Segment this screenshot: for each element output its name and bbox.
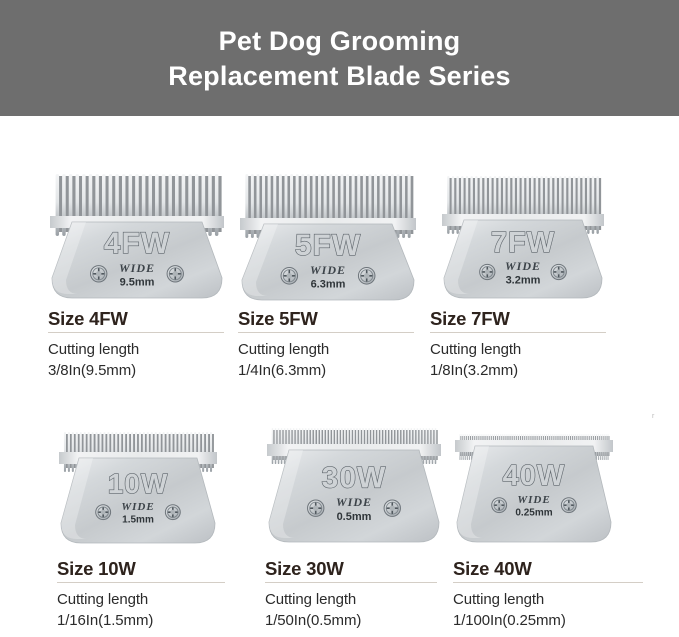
cutting-length-value-4: 1/50In(0.5mm) (265, 610, 437, 631)
svg-text:7FW: 7FW (491, 227, 555, 259)
cutting-length-label-3: Cutting length (57, 589, 225, 610)
svg-text:1.5mm: 1.5mm (122, 515, 154, 526)
svg-text:WIDE: WIDE (517, 494, 550, 506)
svg-text:0.25mm: 0.25mm (515, 508, 552, 519)
svg-text:9.5mm: 9.5mm (120, 277, 155, 289)
cutting-length-value-2: 1/8In(3.2mm) (430, 360, 606, 381)
blade-graphic-4fw: 4FW WIDE 9.5mm (48, 172, 226, 305)
svg-text:40W: 40W (503, 460, 566, 492)
svg-text:WIDE: WIDE (336, 495, 372, 509)
title-underline-1 (238, 332, 414, 333)
product-size-title-4: Size 30W (265, 558, 437, 580)
product-size-title-1: Size 5FW (238, 308, 414, 330)
product-size-title-0: Size 4FW (48, 308, 224, 330)
cutting-length-label-4: Cutting length (265, 589, 437, 610)
svg-text:4FW: 4FW (104, 227, 170, 260)
scan-artifact: ⁠r (652, 413, 654, 420)
product-size-title-2: Size 7FW (430, 308, 606, 330)
product-size-title-3: Size 10W (57, 558, 225, 580)
product-info-0: Size 4FW Cutting length 3/8In(9.5mm) (48, 308, 224, 381)
title-underline-2 (430, 332, 606, 333)
svg-text:WIDE: WIDE (505, 259, 541, 273)
cutting-length-label-5: Cutting length (453, 589, 643, 610)
product-info-2: Size 7FW Cutting length 1/8In(3.2mm) (430, 308, 606, 381)
cutting-length-label-1: Cutting length (238, 339, 414, 360)
title-underline-4 (265, 582, 437, 583)
blade-graphic-30w: 30W WIDE 0.5mm (265, 426, 443, 549)
svg-text:6.3mm: 6.3mm (311, 279, 346, 291)
title-underline-0 (48, 332, 224, 333)
product-info-1: Size 5FW Cutting length 1/4In(6.3mm) (238, 308, 414, 381)
cutting-length-value-5: 1/100In(0.25mm) (453, 610, 643, 631)
title-underline-3 (57, 582, 225, 583)
cutting-length-label-2: Cutting length (430, 339, 606, 360)
blade-graphic-40w: 40W WIDE 0.25mm (453, 432, 615, 549)
cutting-length-value-0: 3/8In(9.5mm) (48, 360, 224, 381)
blade-graphic-7fw: 7FW WIDE 3.2mm (440, 174, 606, 305)
svg-text:3.2mm: 3.2mm (506, 275, 541, 287)
blade-graphic-5fw: 5FW WIDE 6.3mm (238, 172, 418, 307)
page-header: Pet Dog Grooming Replacement Blade Serie… (0, 0, 679, 116)
cutting-length-value-1: 1/4In(6.3mm) (238, 360, 414, 381)
svg-text:10W: 10W (108, 468, 169, 499)
product-info-4: Size 30W Cutting length 1/50In(0.5mm) (265, 558, 437, 631)
title-underline-5 (453, 582, 643, 583)
product-info-5: Size 40W Cutting length 1/100In(0.25mm) (453, 558, 643, 631)
page-title-line-1: Pet Dog Grooming (219, 24, 461, 59)
page-title-line-2: Replacement Blade Series (168, 59, 510, 94)
svg-text:WIDE: WIDE (119, 261, 155, 275)
svg-text:0.5mm: 0.5mm (337, 511, 372, 523)
svg-text:5FW: 5FW (295, 229, 361, 262)
product-info-3: Size 10W Cutting length 1/16In(1.5mm) (57, 558, 225, 631)
blade-graphic-10w: 10W WIDE 1.5mm (57, 430, 219, 550)
product-size-title-5: Size 40W (453, 558, 643, 580)
svg-text:WIDE: WIDE (310, 263, 346, 277)
svg-text:WIDE: WIDE (121, 501, 154, 513)
cutting-length-value-3: 1/16In(1.5mm) (57, 610, 225, 631)
svg-text:30W: 30W (322, 462, 387, 495)
cutting-length-label-0: Cutting length (48, 339, 224, 360)
